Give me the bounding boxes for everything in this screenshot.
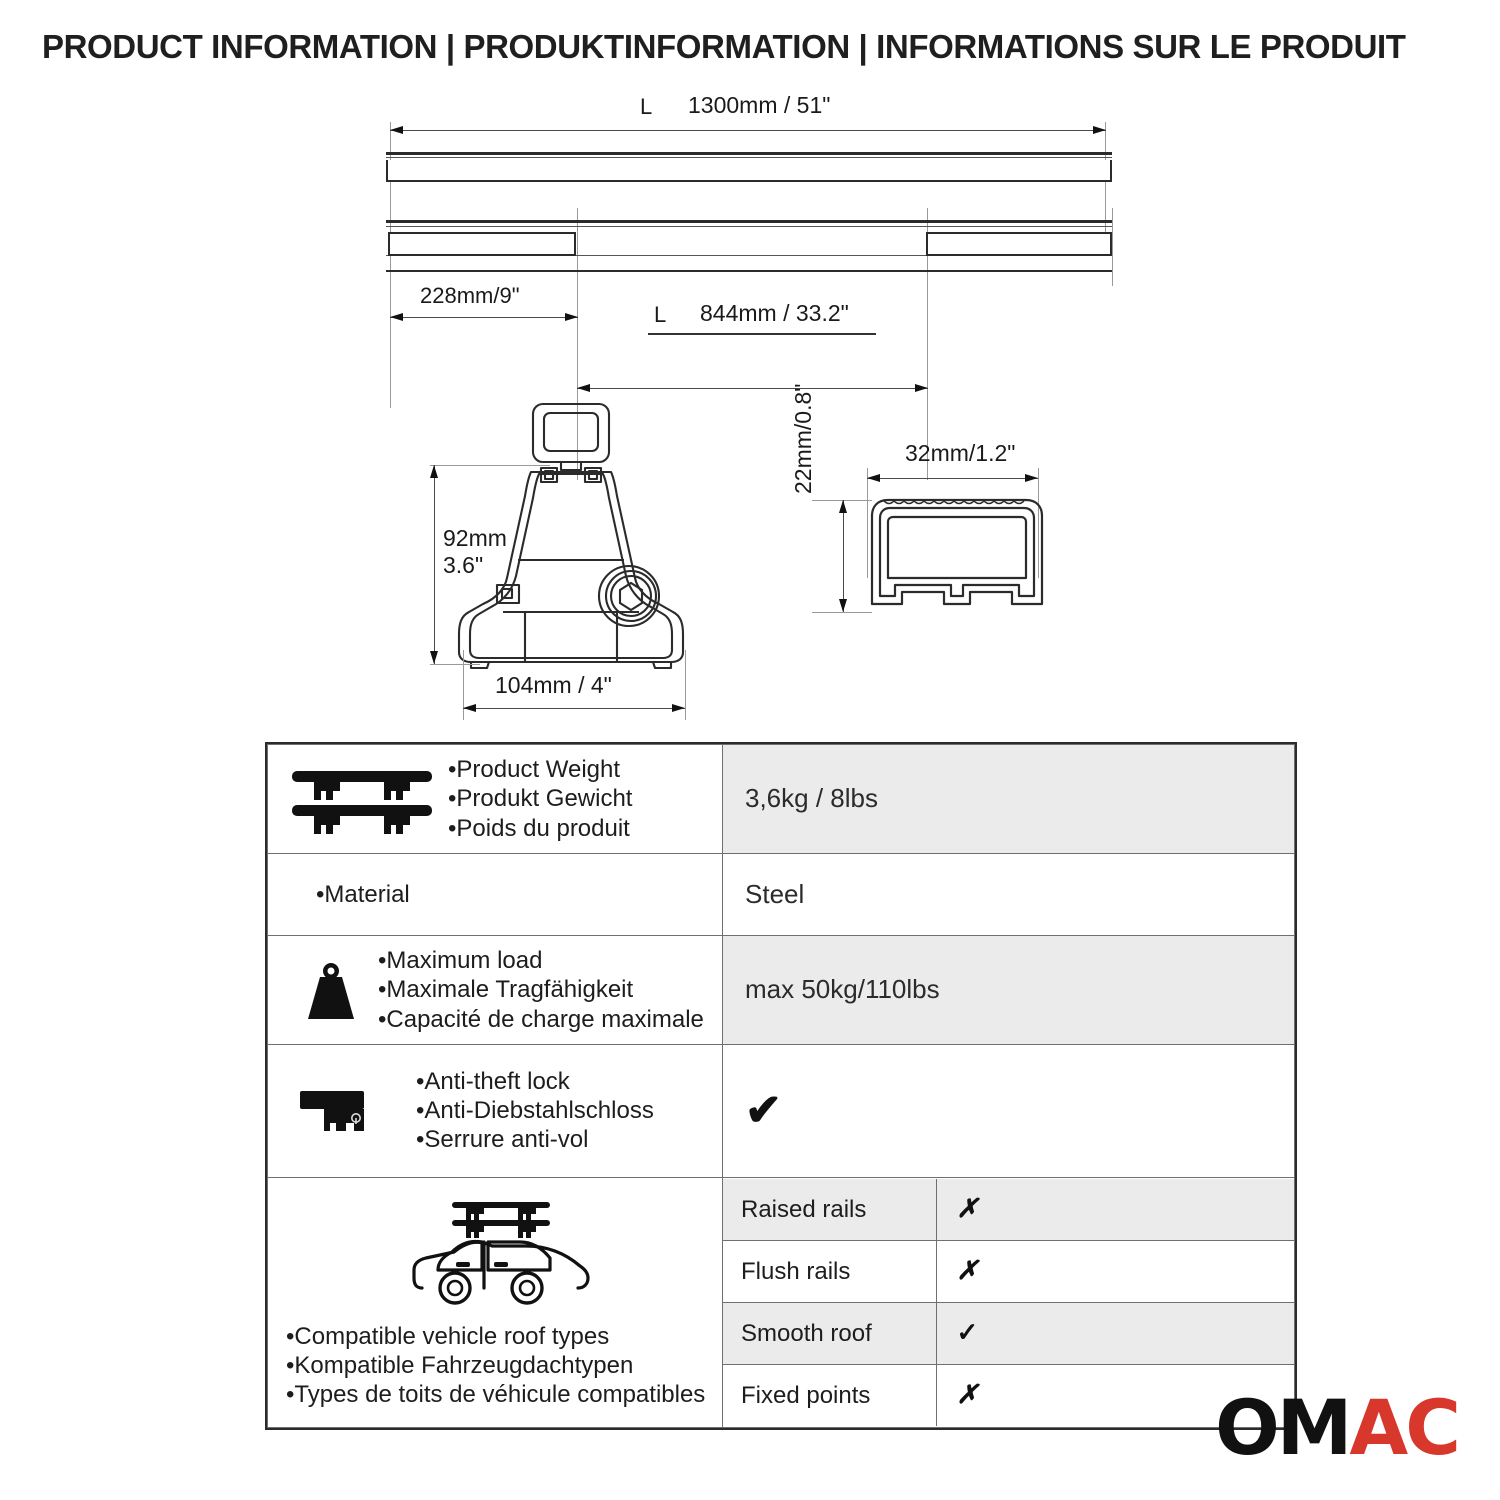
table-row: •Product Weight •Produkt Gewicht •Poids … [268, 745, 1295, 854]
dimension-line-foot-offset [390, 317, 578, 318]
row-label-cell-maxload: •Maximum load •Maximale Tragfähigkeit •C… [268, 936, 723, 1045]
technical-drawing: L 1300mm / 51" 228mm/9" L 844mm / 33.2" [0, 80, 1500, 730]
label-line: •Compatible vehicle roof types [286, 1323, 609, 1350]
bar-length-prefix: L [640, 94, 652, 120]
witness-line-foot-right-outer [1112, 208, 1113, 286]
bar-top-inner-line [386, 157, 1112, 158]
cross-icon: ✗ [957, 1255, 979, 1285]
lock-icon [286, 1083, 372, 1139]
row-value-weight: 3,6kg / 8lbs [723, 745, 1295, 854]
table-row: •Material Steel [268, 853, 1295, 935]
span-length-underline [648, 333, 876, 335]
roof-types-cell: Raised rails ✗ Flush rails ✗ [723, 1177, 1295, 1428]
rail-inner-line [386, 226, 1112, 227]
row-labels-maxload: •Maximum load •Maximale Tragfähigkeit •C… [378, 946, 704, 1034]
bar-length-value: 1300mm / 51" [688, 92, 830, 119]
label-line: •Serrure anti-vol [416, 1126, 588, 1153]
cross-icon: ✗ [957, 1379, 979, 1409]
checkmark-icon: ✓ [957, 1317, 979, 1347]
page-title: PRODUCT INFORMATION | PRODUKTINFORMATION… [42, 28, 1462, 66]
rail-bottom-edge [386, 270, 1112, 272]
row-labels-compat: •Compatible vehicle roof types •Kompatib… [286, 1322, 705, 1410]
cross-icon: ✗ [957, 1193, 979, 1223]
roof-type-name: Fixed points [723, 1365, 936, 1427]
foot-offset-value: 228mm/9" [420, 283, 520, 309]
roof-type-name: Raised rails [723, 1179, 936, 1241]
label-line: •Material [316, 881, 410, 908]
label-line: •Anti-theft lock [416, 1068, 570, 1095]
rail-top-edge [386, 220, 1112, 223]
dimension-line-profile-width [867, 478, 1038, 479]
roof-type-name: Flush rails [723, 1241, 936, 1303]
span-length-prefix: L [654, 302, 666, 328]
roof-type-name: Smooth roof [723, 1303, 936, 1365]
bar-top-edge [386, 152, 1112, 155]
foot-height-line1: 92mm [443, 525, 507, 552]
span-length-value: 844mm / 33.2" [700, 300, 849, 327]
dimension-line-foot-height [434, 465, 435, 664]
weight-icon [286, 957, 362, 1023]
profile-height-value: 22mm/0.8" [790, 468, 817, 494]
dimension-line-foot-width [463, 708, 685, 709]
product-information-sheet: PRODUCT INFORMATION | PRODUKTINFORMATION… [0, 0, 1500, 1500]
row-labels-lock: •Anti-theft lock •Anti-Diebstahlschloss … [416, 1067, 654, 1155]
label-line: •Product Weight [448, 756, 620, 783]
roof-type-row: Smooth roof ✓ [723, 1303, 1294, 1365]
bar-body [386, 160, 1112, 182]
label-line: •Poids du produit [448, 815, 630, 842]
foot-block-right [926, 232, 1112, 256]
foot-block-left [388, 232, 576, 256]
row-value-lock: ✔ [723, 1044, 1295, 1177]
profile-width-value: 32mm/1.2" [905, 440, 1015, 467]
logo-text-dark: OM [1215, 1383, 1349, 1472]
roof-types-table: Raised rails ✗ Flush rails ✗ [723, 1179, 1294, 1426]
foot-height-line2: 3.6" [443, 552, 483, 579]
label-line: •Kompatible Fahrzeugdachtypen [286, 1352, 633, 1379]
label-line: •Types de toits de véhicule compatibles [286, 1381, 705, 1408]
label-line: •Capacité de charge maximale [378, 1006, 704, 1033]
bar-cross-section-drawing [862, 492, 1052, 622]
roof-type-row: Raised rails ✗ [723, 1179, 1294, 1241]
row-label-cell-weight: •Product Weight •Produkt Gewicht •Poids … [268, 745, 723, 854]
car-with-roof-rack-icon [408, 1196, 594, 1312]
roof-type-row: Fixed points ✗ [723, 1365, 1294, 1427]
table-row: •Compatible vehicle roof types •Kompatib… [268, 1177, 1295, 1428]
row-value-material: Steel [723, 853, 1295, 935]
dimension-line-span [577, 388, 928, 389]
row-label-cell-lock: •Anti-theft lock •Anti-Diebstahlschloss … [268, 1044, 723, 1177]
witness-line-foot-height-top [430, 465, 550, 466]
row-labels-material: •Material [286, 880, 410, 909]
table-row: •Maximum load •Maximale Tragfähigkeit •C… [268, 936, 1295, 1045]
roof-type-support: ✓ [936, 1303, 1294, 1365]
dimension-line-bar-length [390, 130, 1106, 131]
label-line: •Anti-Diebstahlschloss [416, 1097, 654, 1124]
two-crossbars-icon [286, 763, 438, 835]
foot-width-value: 104mm / 4" [495, 672, 612, 699]
row-label-cell-compat: •Compatible vehicle roof types •Kompatib… [268, 1177, 723, 1428]
roof-type-row: Flush rails ✗ [723, 1241, 1294, 1303]
specification-table: •Product Weight •Produkt Gewicht •Poids … [265, 742, 1297, 1430]
label-line: •Produkt Gewicht [448, 785, 632, 812]
row-value-maxload: max 50kg/110lbs [723, 936, 1295, 1045]
row-labels-weight: •Product Weight •Produkt Gewicht •Poids … [448, 755, 632, 843]
logo-text-red: AC [1349, 1383, 1458, 1472]
omac-logo: OMAC [1215, 1390, 1458, 1466]
checkmark-icon: ✔ [745, 1086, 782, 1135]
roof-type-support: ✗ [936, 1241, 1294, 1303]
row-label-cell-material: •Material [268, 853, 723, 935]
witness-line-foot-width-right [685, 650, 686, 720]
witness-line-foot-height-bottom [430, 664, 480, 665]
label-line: •Maximum load [378, 947, 542, 974]
dimension-line-profile-height [843, 500, 844, 612]
label-line: •Maximale Tragfähigkeit [378, 976, 633, 1003]
table-row: •Anti-theft lock •Anti-Diebstahlschloss … [268, 1044, 1295, 1177]
roof-type-support: ✗ [936, 1179, 1294, 1241]
